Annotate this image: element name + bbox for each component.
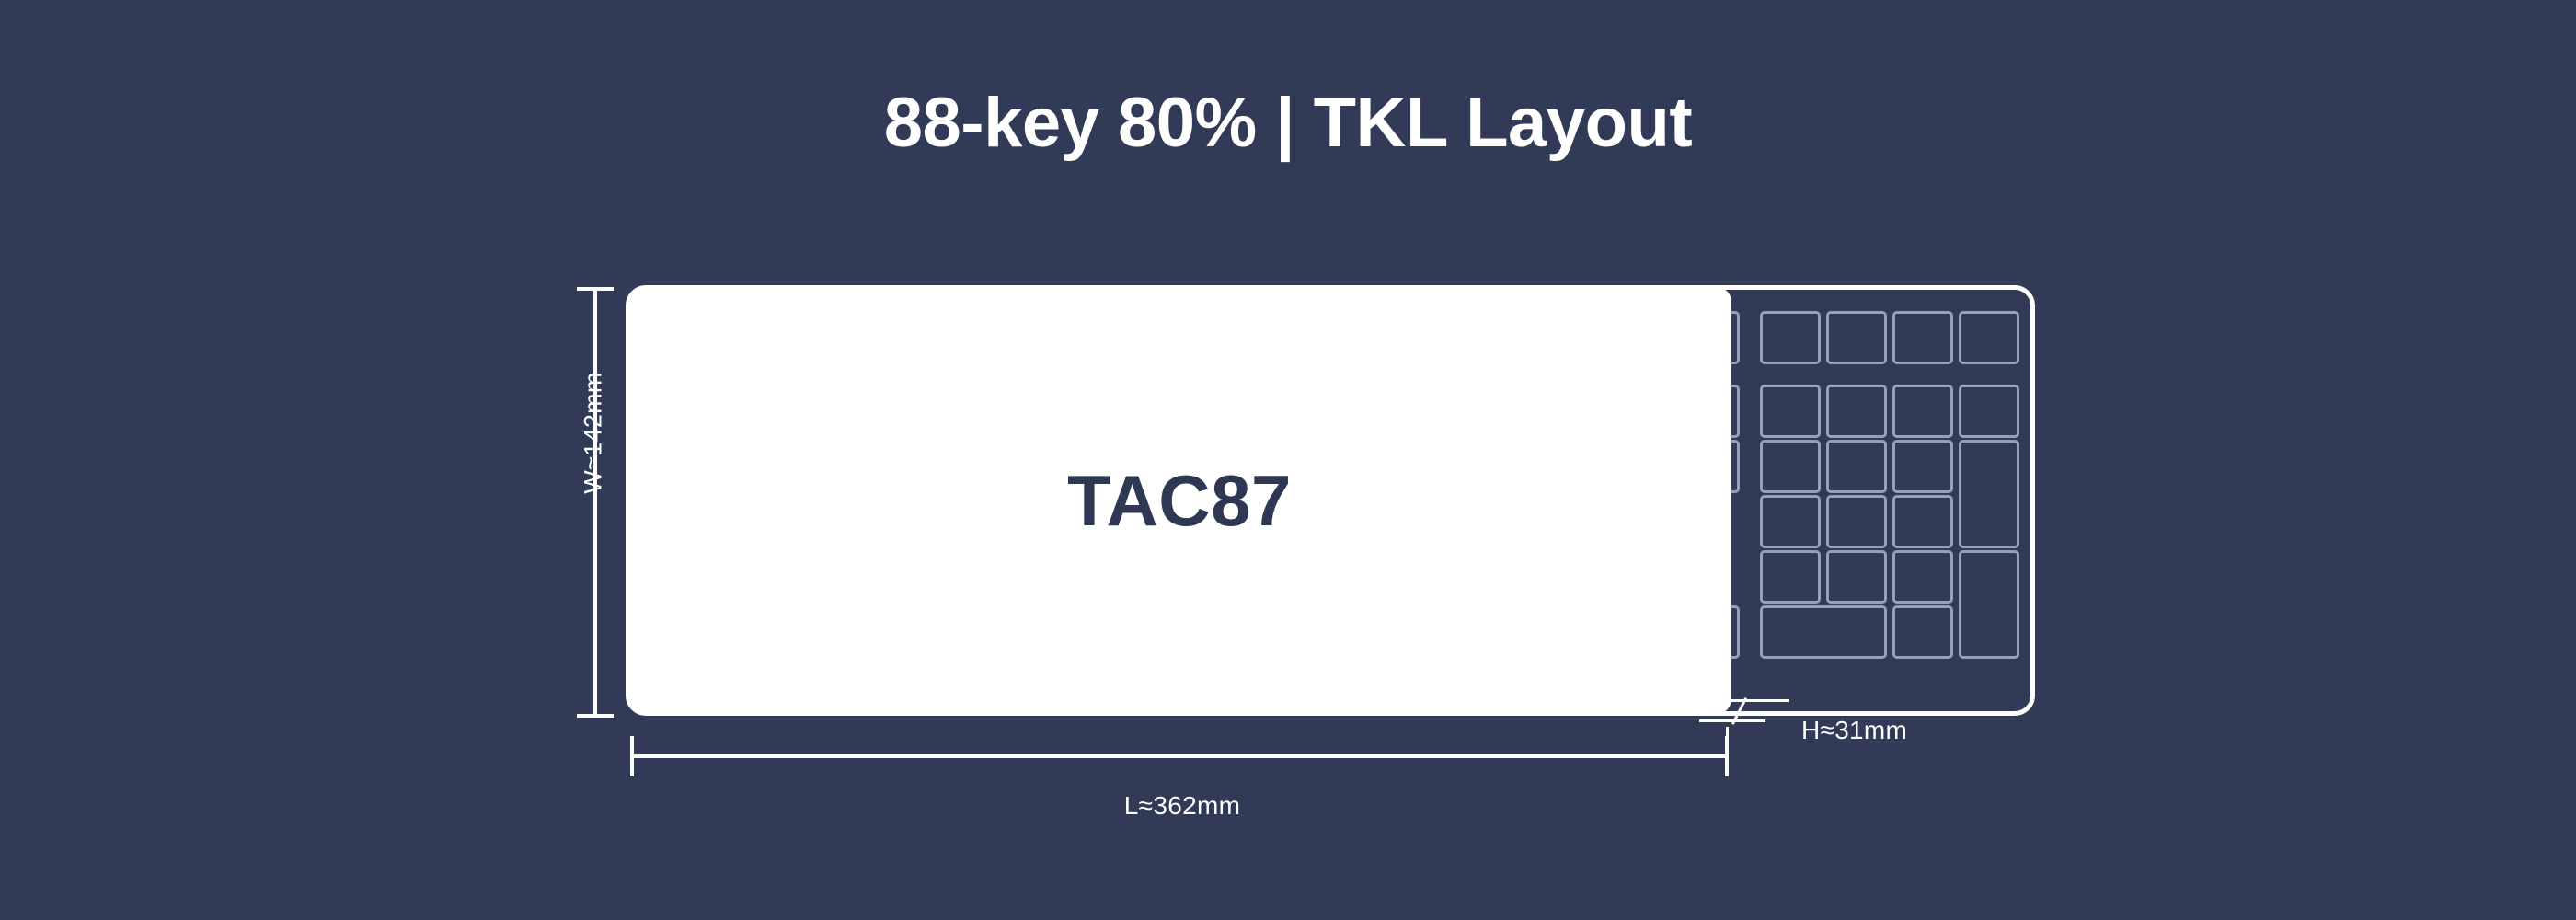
keycap-outline xyxy=(1760,440,1821,493)
keycap-outline xyxy=(1826,440,1887,493)
product-name-label: TAC87 xyxy=(627,287,1731,714)
keycap-outline xyxy=(1826,385,1887,438)
keycap-outline xyxy=(1760,550,1821,604)
keycap-outline xyxy=(1959,311,2019,364)
keycap-outline xyxy=(1959,440,2019,548)
keycap-outline xyxy=(1826,311,1887,364)
keycap-outline xyxy=(1959,550,2019,659)
keycap-outline xyxy=(1959,385,2019,438)
keycap-outline xyxy=(1760,495,1821,548)
length-dimension-line xyxy=(630,754,1729,758)
product-info-card: TAC87 xyxy=(627,287,1731,714)
keycap-outline xyxy=(1892,550,1953,604)
keycap-outline xyxy=(1892,495,1953,548)
keycap-outline xyxy=(1892,311,1953,364)
keycap-outline xyxy=(1892,605,1953,659)
height-marker-bar-bottom xyxy=(1699,719,1765,722)
keycap-outline xyxy=(1760,311,1821,364)
keycap-outline xyxy=(1892,440,1953,493)
height-dimension-marker xyxy=(1697,696,1799,727)
keycap-outline xyxy=(1760,385,1821,438)
length-dimension-label: L≈362mm xyxy=(814,791,1550,821)
height-dimension-tick xyxy=(1726,727,1729,764)
keyboard-dimension-diagram: TAC87 W≈142mm L≈362mm H≈31mm xyxy=(0,0,2576,920)
diagram-canvas: 88-key 80% | TKL Layout TAC87 W≈142mm L≈… xyxy=(0,0,2576,920)
keycap-outline xyxy=(1826,495,1887,548)
keycap-outline xyxy=(1892,385,1953,438)
keycap-outline xyxy=(1760,605,1887,659)
width-dimension-label: W≈142mm xyxy=(580,341,608,525)
keycap-outline xyxy=(1826,550,1887,604)
height-marker-bar-top xyxy=(1723,699,1789,702)
height-dimension-label: H≈31mm xyxy=(1801,716,1907,745)
width-dimension-cap-bottom xyxy=(577,714,614,718)
key-cluster xyxy=(1697,311,2021,690)
